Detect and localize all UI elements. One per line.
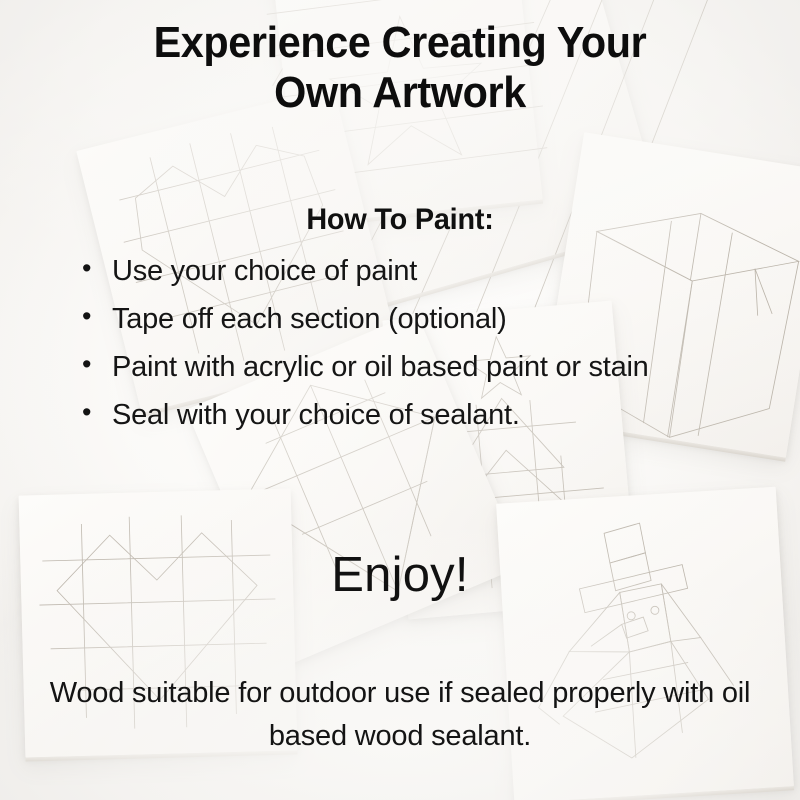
enjoy-heading: Enjoy!: [0, 547, 800, 603]
how-to-paint-heading: How To Paint:: [16, 203, 784, 237]
page-title: Experience Creating Your Own Artwork: [24, 18, 776, 118]
list-item: Tape off each section (optional): [78, 297, 764, 341]
list-item: Paint with acrylic or oil based paint or…: [78, 345, 764, 389]
wood-care-footnote: Wood suitable for outdoor use if sealed …: [46, 672, 754, 758]
how-to-paint-steps-list: Use your choice of paint Tape off each s…: [78, 249, 764, 441]
list-item: Use your choice of paint: [78, 249, 764, 293]
list-item: Seal with your choice of sealant.: [78, 393, 764, 437]
page-title-line-2: Own Artwork: [24, 68, 776, 118]
poster-canvas: Experience Creating Your Own Artwork How…: [0, 0, 800, 800]
text-overlay: Experience Creating Your Own Artwork How…: [0, 0, 800, 800]
page-title-line-1: Experience Creating Your: [24, 18, 776, 68]
